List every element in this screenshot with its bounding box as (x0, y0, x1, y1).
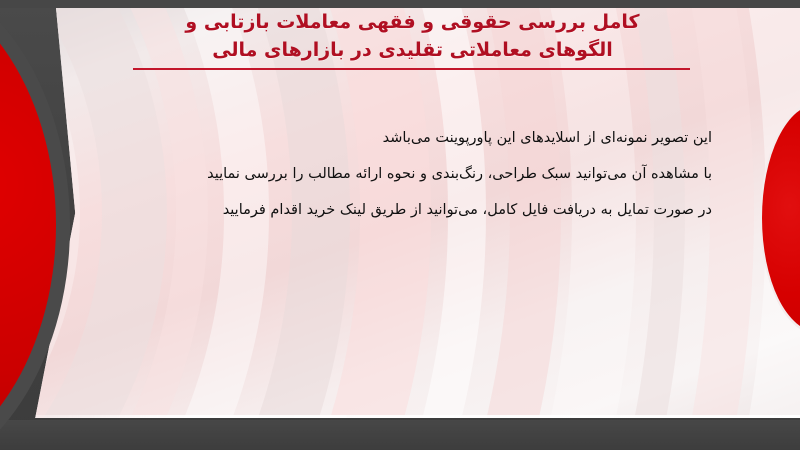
presentation-slide: کامل بررسی حقوقی و فقهی معاملات بازتابی … (0, 0, 800, 450)
slide-body-line-1: این تصویر نمونه‌ای از اسلایدهای این پاور… (150, 120, 712, 156)
slide-body: این تصویر نمونه‌ای از اسلایدهای این پاور… (150, 120, 712, 228)
slide-body-line-3: در صورت تمایل به دریافت فایل کامل، می‌تو… (150, 192, 712, 228)
frame-top-band (0, 0, 800, 8)
slide-title-line-2: الگوهای معاملاتی تقلیدی در بازارهای مالی (120, 36, 705, 64)
frame-bottom-band (0, 420, 800, 450)
slide-title: کامل بررسی حقوقی و فقهی معاملات بازتابی … (120, 8, 705, 70)
panel-bottom-highlight (0, 415, 800, 418)
slide-title-line-1: کامل بررسی حقوقی و فقهی معاملات بازتابی … (120, 8, 705, 36)
slide-body-line-2: با مشاهده آن می‌توانید سبک طراحی، رنگ‌بن… (150, 156, 712, 192)
title-divider-rule (133, 68, 690, 70)
